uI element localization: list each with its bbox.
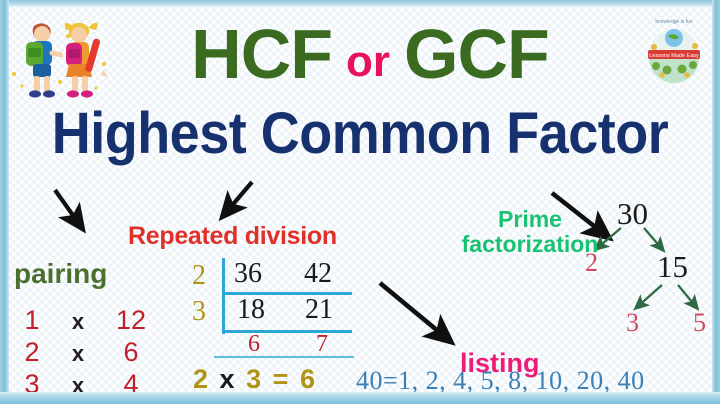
multiply-symbol: x [54,341,102,367]
quotient-b: 7 [316,331,328,358]
equation-answer: 6 [300,364,317,394]
border-left [0,0,9,404]
dividend-2a: 18 [237,294,265,326]
slide-canvas: HCF or GCF knowledge is fun Lessons Made… [0,0,720,404]
equation-multiply-symbol: x [220,364,237,394]
two-kids-with-backpacks-clipart [8,12,114,102]
pair-factor-b: 12 [102,305,160,336]
tree-root-30: 30 [617,196,648,232]
repeated-division-work: 2 3 36 42 18 21 6 7 [192,258,382,358]
heading-repeated-division: Repeated division [128,222,337,251]
multiply-symbol: x [54,309,102,335]
heading-pairing: pairing [14,258,107,290]
tree-leaf-3: 3 [626,308,639,338]
main-title: HCF or GCF [120,8,620,100]
equation-right: 3 [246,364,263,394]
dividend-2b: 21 [305,294,333,326]
tree-node-15: 15 [657,249,688,285]
border-top [0,0,720,7]
tree-leaf-2: 2 [585,248,598,278]
svg-text:Lessons Made Easy: Lessons Made Easy [649,53,699,59]
dividend-1a: 36 [234,258,262,290]
table-row: 2 x 6 [10,337,160,369]
border-right [712,0,720,404]
division-rule-2 [222,330,352,333]
title-or: or [346,24,390,84]
prime-factor-tree: 30 2 15 3 5 [560,196,720,346]
title-hcf: HCF [191,19,332,89]
dividend-1b: 42 [304,258,332,290]
quotient-a: 6 [248,331,260,358]
divisor-2: 3 [192,296,206,328]
divisor-1: 2 [192,260,206,292]
equals-symbol: = [273,364,291,394]
pair-factor-b: 6 [102,337,160,368]
pair-factor-a: 1 [10,305,54,336]
table-row: 1 x 12 [10,305,160,337]
page-subtitle: Highest Common Factor [25,104,695,165]
pairing-factor-table: 1 x 12 2 x 6 3 x 4 [10,305,160,401]
border-bottom [0,392,720,404]
learning-made-easy-globe-logo: knowledge is fun Lessons Made Easy [640,12,708,84]
division-rule-3 [214,356,354,358]
division-vertical-rule [222,258,225,334]
svg-text:knowledge is fun: knowledge is fun [655,19,692,25]
pair-factor-a: 2 [10,337,54,368]
tree-leaf-5: 5 [693,308,706,338]
equation-left: 2 [193,364,210,394]
title-gcf: GCF [404,19,549,89]
hcf-result-equation: 2 x 3 = 6 [193,364,317,395]
